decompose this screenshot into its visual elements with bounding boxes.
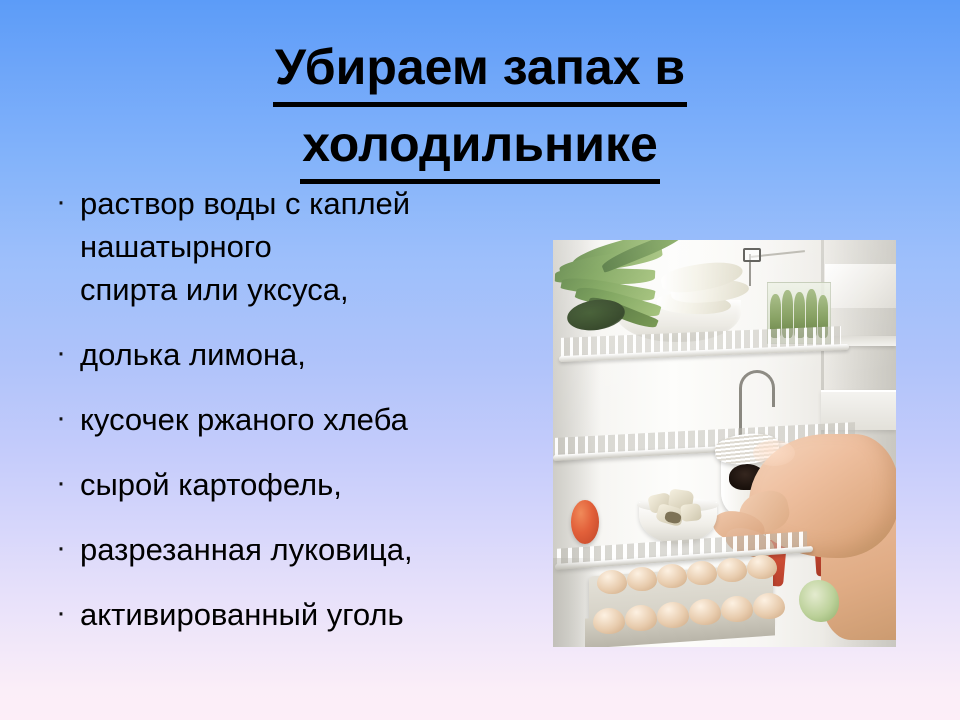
list-item-line-2: спирта или уксуса, [80, 268, 566, 311]
bullet-dot-icon: · [46, 593, 80, 633]
list-item-text: долька лимона, [80, 333, 566, 376]
list-item-line-1: кусочек ржаного хлеба [80, 402, 408, 437]
egg [593, 608, 625, 634]
bullet-dot-icon: · [46, 182, 80, 222]
hanger-clip-icon [743, 248, 761, 262]
bullet-dot-icon: · [46, 398, 80, 438]
egg [747, 555, 777, 579]
list-item-line-1: долька лимона, [80, 337, 306, 372]
list-item-text: активированный уголь [80, 593, 566, 636]
egg [657, 564, 687, 588]
list-item: · раствор воды с каплей нашатырного спир… [46, 182, 566, 311]
list-item: · сырой картофель, [46, 463, 566, 506]
list-item: · кусочек ржаного хлеба [46, 398, 566, 441]
egg [721, 596, 753, 622]
egg [625, 605, 657, 631]
list-item-line-1: активированный уголь [80, 597, 404, 632]
red-container-lid [571, 500, 599, 544]
food-piece [680, 503, 702, 522]
list-item-line-1: раствор воды с каплей нашатырного [80, 186, 410, 264]
list-item-text: кусочек ржаного хлеба [80, 398, 566, 441]
list-item-text: раствор воды с каплей нашатырного спирта… [80, 182, 566, 311]
list-item-text: разрезанная луковица, [80, 528, 566, 571]
hand-highlight [753, 440, 795, 466]
refrigerator-photo [553, 240, 896, 647]
page-title: Убираем запах в холодильнике [0, 34, 960, 184]
egg [717, 558, 747, 582]
egg [627, 567, 657, 591]
list-item: · активированный уголь [46, 593, 566, 636]
list-item-line-1: сырой картофель, [80, 467, 342, 502]
page-title-line-1: Убираем запах в [273, 34, 687, 107]
egg [689, 599, 721, 625]
list-item: · долька лимона, [46, 333, 566, 376]
egg [657, 602, 689, 628]
list-item-text: сырой картофель, [80, 463, 566, 506]
fridge-door-panel [825, 264, 896, 308]
page-title-line-2: холодильнике [300, 111, 660, 184]
bullet-dot-icon: · [46, 528, 80, 568]
vegetable-lower [799, 580, 839, 622]
deodorizer-hook-icon [739, 370, 775, 407]
page-title-line-2-wrap: холодильнике [0, 111, 960, 184]
slide-canvas: Убираем запах в холодильнике · раствор в… [0, 0, 960, 720]
bullet-dot-icon: · [46, 333, 80, 373]
bullet-dot-icon: · [46, 463, 80, 503]
bullet-list: · раствор воды с каплей нашатырного спир… [46, 182, 566, 658]
list-item-line-1: разрезанная луковица, [80, 532, 413, 567]
egg [597, 570, 627, 594]
list-item: · разрезанная луковица, [46, 528, 566, 571]
egg [687, 561, 717, 585]
egg [753, 593, 785, 619]
